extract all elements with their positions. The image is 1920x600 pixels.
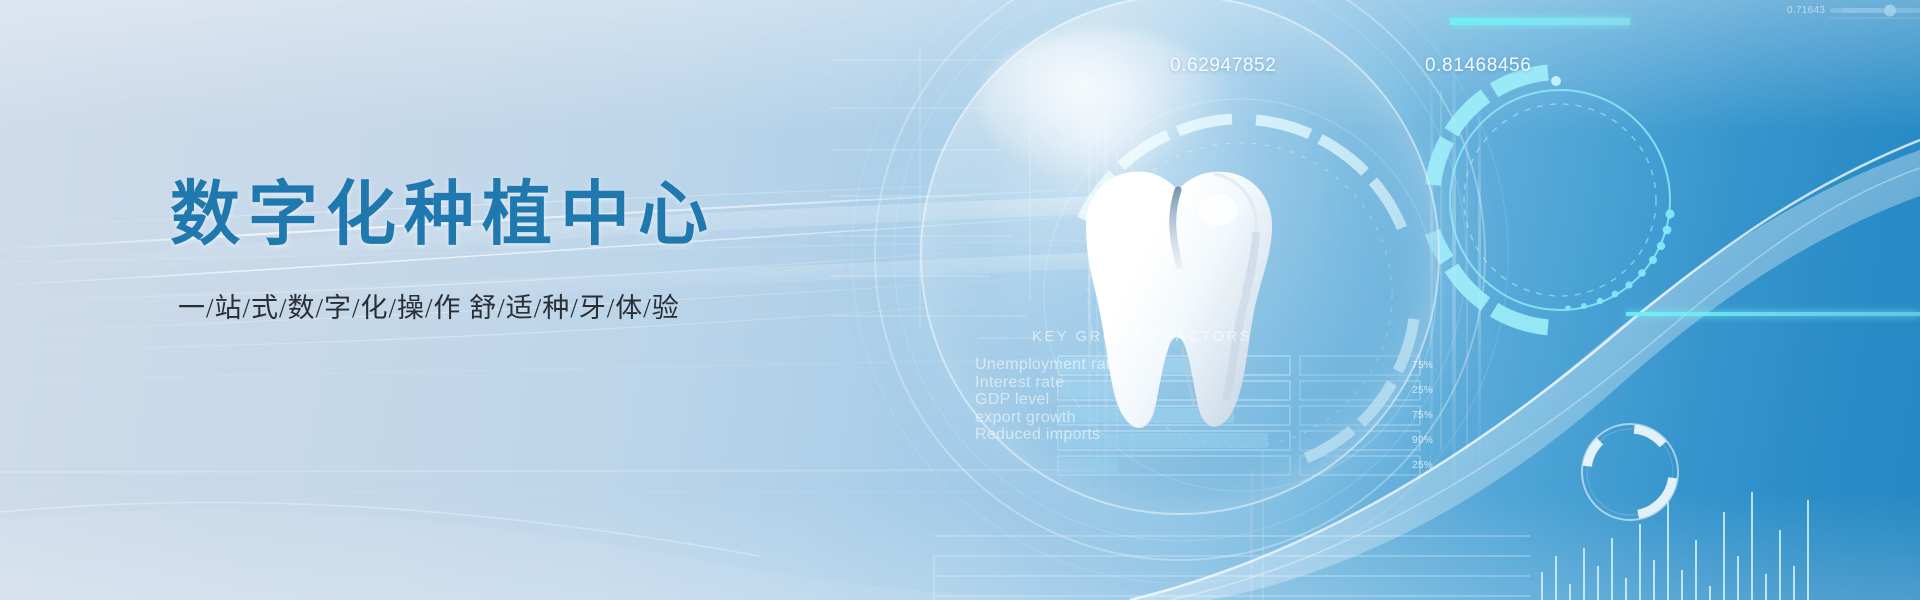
growth-factor-list: Unemployment rate Interest rate GDP leve… [975, 356, 1120, 444]
list-item: Interest rate [975, 374, 1120, 392]
page-subtitle: 一/站/式/数/字/化/操/作 舒/适/种/牙/体/验 [178, 286, 716, 325]
bottom-bar-chart [1542, 492, 1808, 600]
lower-grid-table [934, 536, 1530, 600]
banner-text-block: 数字化种植中心 一/站/式/数/字/化/操/作 舒/适/种/牙/体/验 [170, 178, 716, 325]
percent-label: 25% [1412, 385, 1433, 396]
percent-label: 90% [1412, 435, 1433, 446]
readout-value-a: 0.62947852 [1170, 55, 1276, 77]
tech-graphic-panel [830, 0, 1920, 600]
slider-value-label: 0.71643 [1787, 5, 1825, 16]
list-item: GDP level [975, 391, 1120, 409]
key-growth-factors-heading: KEY GROWTH FACTORS [1032, 328, 1252, 345]
sphere-highlight [980, 30, 1230, 180]
chromatic-streaks [1088, 40, 1481, 600]
schematic-grid [830, 46, 1036, 338]
progress-ring [1582, 424, 1678, 520]
hud-slider [1830, 5, 1920, 20]
segmented-gauge-ring [1432, 73, 1674, 328]
list-item: Unemployment rate [975, 356, 1120, 374]
accent-bar-top [1450, 18, 1630, 25]
percent-label: 75% [1412, 360, 1433, 371]
hero-banner: 数字化种植中心 一/站/式/数/字/化/操/作 舒/适/种/牙/体/验 [0, 0, 1920, 600]
percent-label: 25% [1412, 460, 1433, 471]
page-title: 数字化种植中心 [170, 178, 716, 252]
percent-label: 75% [1412, 410, 1433, 421]
glossy-wave [1130, 150, 1920, 600]
readout-value-b: 0.81468456 [1425, 55, 1531, 77]
hud-background-layer [830, 0, 1920, 600]
accent-bar-right [1626, 312, 1920, 316]
list-item: Reduced imports [975, 426, 1120, 444]
list-item: export growth [975, 409, 1120, 427]
